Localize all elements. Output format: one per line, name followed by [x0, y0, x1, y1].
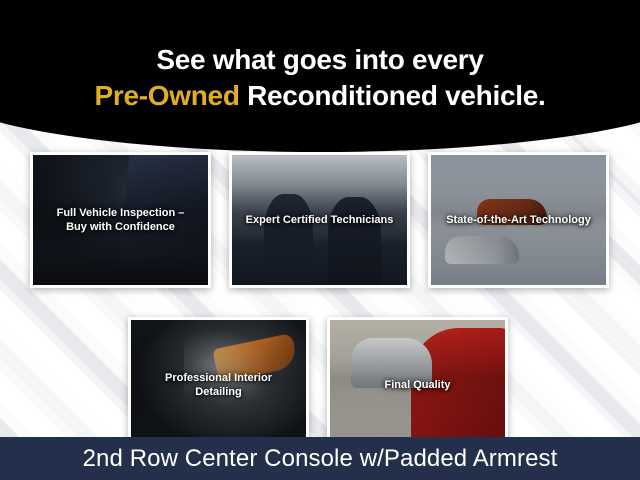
feature-card-professional-interior-detailing[interactable]: Professional Interior Detailing: [128, 317, 309, 453]
feature-card-final-quality[interactable]: Final Quality: [327, 317, 508, 453]
card-label-line-2: Buy with Confidence: [37, 220, 204, 234]
header-band: [0, 0, 640, 152]
card-label-line-2: Detailing: [135, 385, 302, 399]
caption-bar: 2nd Row Center Console w/Padded Armrest: [0, 437, 640, 480]
promo-graphic-root: See what goes into every Pre-Owned Recon…: [0, 0, 640, 480]
feature-card-state-of-the-art-technology[interactable]: State-of-the-Art Technology: [428, 152, 609, 288]
card-label-final-quality: Final Quality: [334, 378, 501, 392]
caption-text: 2nd Row Center Console w/Padded Armrest: [83, 445, 558, 473]
card-label-professional-interior-detailing: Professional Interior Detailing: [135, 371, 302, 399]
feature-card-full-vehicle-inspection[interactable]: Full Vehicle Inspection – Buy with Confi…: [30, 152, 211, 288]
card-label-line-1: Professional Interior: [135, 371, 302, 385]
card-label-line-1: Expert Certified Technicians: [236, 213, 403, 227]
card-label-expert-certified-technicians: Expert Certified Technicians: [236, 213, 403, 227]
card-label-line-1: State-of-the-Art Technology: [435, 213, 602, 227]
card-label-full-vehicle-inspection: Full Vehicle Inspection – Buy with Confi…: [37, 206, 204, 234]
card-label-line-1: Final Quality: [334, 378, 501, 392]
card-label-line-1: Full Vehicle Inspection –: [37, 206, 204, 220]
feature-card-expert-certified-technicians[interactable]: Expert Certified Technicians: [229, 152, 410, 288]
card-label-state-of-the-art-technology: State-of-the-Art Technology: [435, 213, 602, 227]
